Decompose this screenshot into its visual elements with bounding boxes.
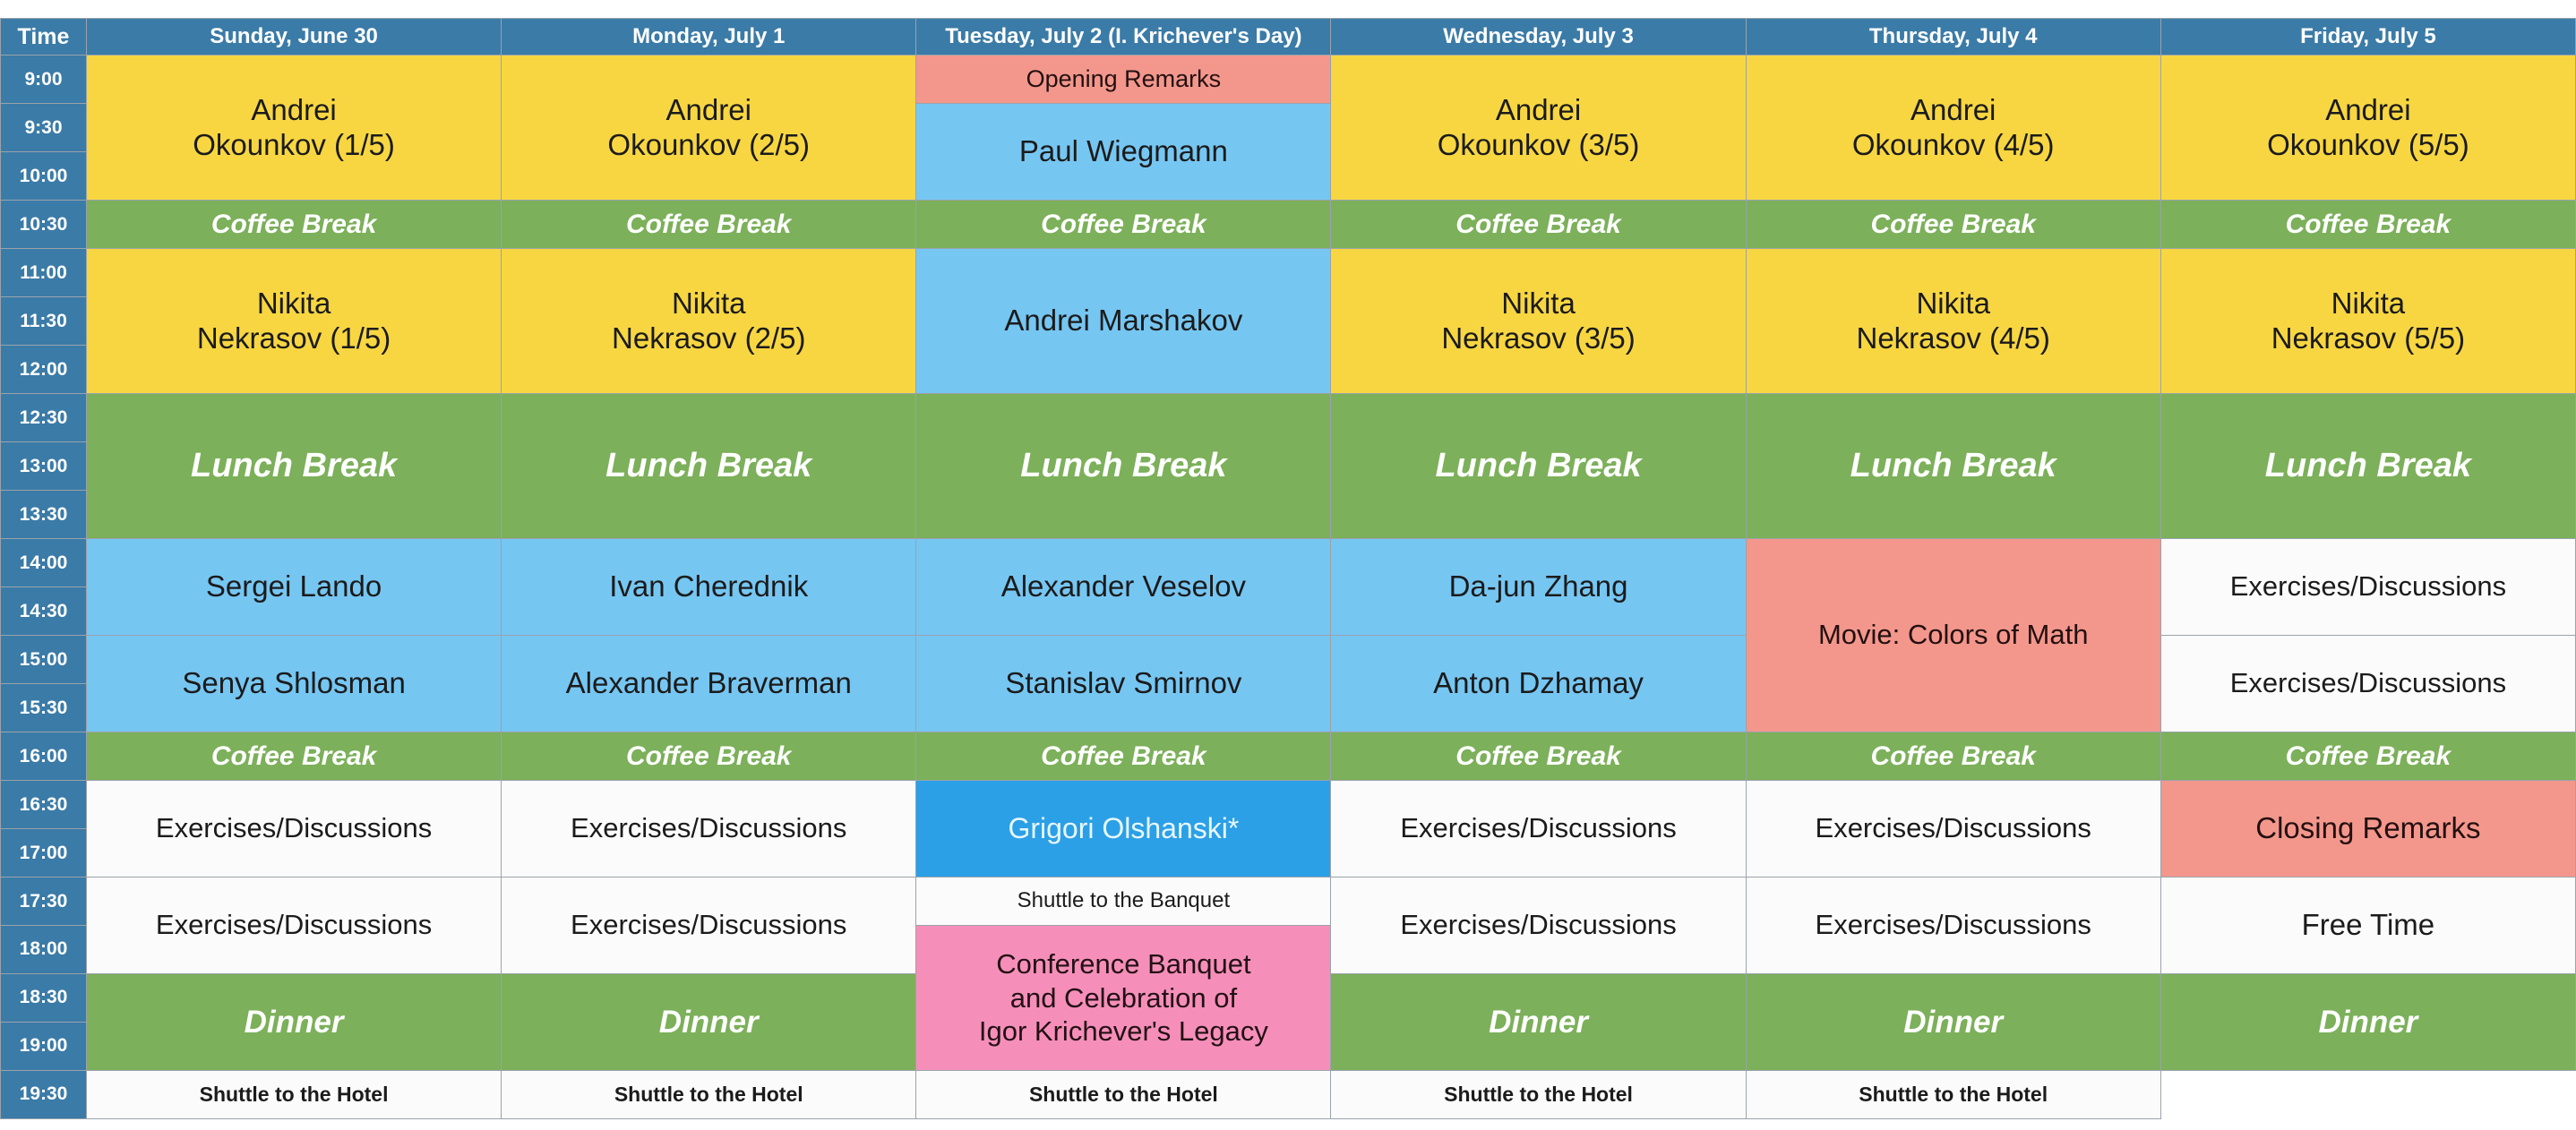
row-0900: 9:00 AndreiOkounkov (1/5) AndreiOkounkov… bbox=[1, 56, 2576, 104]
event-tue-coffee-break-am[interactable]: Coffee Break bbox=[916, 201, 1331, 249]
event-mon-lunch-break[interactable]: Lunch Break bbox=[502, 394, 916, 539]
event-sun-coffee-break-am[interactable]: Coffee Break bbox=[87, 201, 502, 249]
time-label-1730: 17:30 bbox=[1, 877, 87, 926]
event-wed-anton-dzhamay[interactable]: Anton Dzhamay bbox=[1331, 636, 1746, 732]
time-label-1100: 11:00 bbox=[1, 249, 87, 297]
time-label-1200: 12:00 bbox=[1, 346, 87, 394]
event-sun-exercises-late1[interactable]: Exercises/Discussions bbox=[87, 781, 502, 877]
event-thu-shuttle-hotel[interactable]: Shuttle to the Hotel bbox=[1331, 1070, 1746, 1118]
event-fri-coffee-break-am[interactable]: Coffee Break bbox=[2160, 201, 2575, 249]
event-fri-coffee-break-pm[interactable]: Coffee Break bbox=[2160, 732, 2575, 781]
time-label-1400: 14:00 bbox=[1, 539, 87, 587]
time-column-header: Time bbox=[1, 19, 87, 56]
event-mon-coffee-break-pm[interactable]: Coffee Break bbox=[502, 732, 916, 781]
event-fri-lunch-break[interactable]: Lunch Break bbox=[2160, 394, 2575, 539]
event-wed-da-jun-zhang[interactable]: Da-jun Zhang bbox=[1331, 539, 1746, 636]
event-sun-second-lecture[interactable]: NikitaNekrasov (1/5) bbox=[87, 249, 502, 394]
time-label-1000: 10:00 bbox=[1, 152, 87, 201]
event-fri-shuttle-hotel[interactable]: Shuttle to the Hotel bbox=[1746, 1070, 2160, 1118]
event-sun-coffee-break-pm[interactable]: Coffee Break bbox=[87, 732, 502, 781]
event-wed-exercises-late2[interactable]: Exercises/Discussions bbox=[1331, 877, 1746, 974]
event-sun-senya-shlosman[interactable]: Senya Shlosman bbox=[87, 636, 502, 732]
time-label-1330: 13:30 bbox=[1, 491, 87, 539]
time-label-1500: 15:00 bbox=[1, 636, 87, 684]
event-thu-lunch-break[interactable]: Lunch Break bbox=[1746, 394, 2160, 539]
event-tue-lunch-break[interactable]: Lunch Break bbox=[916, 394, 1331, 539]
event-thu-second-lecture[interactable]: NikitaNekrasov (4/5) bbox=[1746, 249, 2160, 394]
event-fri-exercises-pm1[interactable]: Exercises/Discussions bbox=[2160, 539, 2575, 636]
event-wed-second-lecture[interactable]: NikitaNekrasov (3/5) bbox=[1331, 249, 1746, 394]
time-label-1700: 17:00 bbox=[1, 829, 87, 877]
event-wed-morning-lecture[interactable]: AndreiOkounkov (3/5) bbox=[1331, 56, 1746, 201]
event-thu-coffee-break-pm[interactable]: Coffee Break bbox=[1746, 732, 2160, 781]
event-tue-andrei-marshakov[interactable]: Andrei Marshakov bbox=[916, 249, 1331, 394]
event-tue-stanislav-smirnov[interactable]: Stanislav Smirnov bbox=[916, 636, 1331, 732]
event-tue-alexander-veselov[interactable]: Alexander Veselov bbox=[916, 539, 1331, 636]
event-mon-exercises-late2[interactable]: Exercises/Discussions bbox=[502, 877, 916, 974]
event-wed-coffee-break-am[interactable]: Coffee Break bbox=[1331, 201, 1746, 249]
event-fri-exercises-pm2[interactable]: Exercises/Discussions bbox=[2160, 636, 2575, 732]
event-wed-lunch-break[interactable]: Lunch Break bbox=[1331, 394, 1746, 539]
event-tue-conference-banquet[interactable]: Conference Banquetand Celebration ofIgor… bbox=[916, 926, 1331, 1071]
time-label-1800: 18:00 bbox=[1, 926, 87, 974]
event-mon-morning-lecture[interactable]: AndreiOkounkov (2/5) bbox=[502, 56, 916, 201]
row-1930: 19:30 Shuttle to the Hotel Shuttle to th… bbox=[1, 1070, 2576, 1118]
event-fri-free-time[interactable]: Free Time bbox=[2160, 877, 2575, 974]
event-fri-closing-remarks[interactable]: Closing Remarks bbox=[2160, 781, 2575, 877]
row-1630: 16:30 Exercises/Discussions Exercises/Di… bbox=[1, 781, 2576, 829]
event-mon-second-lecture[interactable]: NikitaNekrasov (2/5) bbox=[502, 249, 916, 394]
time-label-1600: 16:00 bbox=[1, 732, 87, 781]
event-thu-movie-colors-of-math[interactable]: Movie: Colors of Math bbox=[1746, 539, 2160, 732]
event-tue-opening-remarks[interactable]: Opening Remarks bbox=[916, 56, 1331, 104]
time-label-1030: 10:30 bbox=[1, 201, 87, 249]
event-tue-shuttle-to-banquet[interactable]: Shuttle to the Banquet bbox=[916, 877, 1331, 926]
event-sun-lunch-break[interactable]: Lunch Break bbox=[87, 394, 502, 539]
event-wed-coffee-break-pm[interactable]: Coffee Break bbox=[1331, 732, 1746, 781]
event-sun-dinner[interactable]: Dinner bbox=[87, 973, 502, 1070]
header-row: Time Sunday, June 30 Monday, July 1 Tues… bbox=[1, 19, 2576, 56]
time-label-1900: 19:00 bbox=[1, 1022, 87, 1070]
event-sun-morning-lecture[interactable]: AndreiOkounkov (1/5) bbox=[87, 56, 502, 201]
row-1400: 14:00 Sergei Lando Ivan Cherednik Alexan… bbox=[1, 539, 2576, 587]
event-fri-morning-lecture[interactable]: AndreiOkounkov (5/5) bbox=[2160, 56, 2575, 201]
time-label-0900: 9:00 bbox=[1, 56, 87, 104]
time-label-1430: 14:30 bbox=[1, 587, 87, 636]
row-1730: 17:30 Exercises/Discussions Exercises/Di… bbox=[1, 877, 2576, 926]
row-1600: 16:00 Coffee Break Coffee Break Coffee B… bbox=[1, 732, 2576, 781]
day-header-tuesday: Tuesday, July 2 (I. Krichever's Day) bbox=[916, 19, 1331, 56]
time-label-1300: 13:00 bbox=[1, 442, 87, 491]
event-thu-exercises-late2[interactable]: Exercises/Discussions bbox=[1746, 877, 2160, 974]
event-sun-shuttle-hotel[interactable]: Shuttle to the Hotel bbox=[87, 1070, 502, 1118]
day-header-monday: Monday, July 1 bbox=[502, 19, 916, 56]
time-label-1930: 19:30 bbox=[1, 1070, 87, 1118]
event-thu-exercises-late1[interactable]: Exercises/Discussions bbox=[1746, 781, 2160, 877]
event-fri-second-lecture[interactable]: NikitaNekrasov (5/5) bbox=[2160, 249, 2575, 394]
time-label-1830: 18:30 bbox=[1, 973, 87, 1022]
event-mon-exercises-late1[interactable]: Exercises/Discussions bbox=[502, 781, 916, 877]
event-mon-ivan-cherednik[interactable]: Ivan Cherednik bbox=[502, 539, 916, 636]
time-label-0930: 9:30 bbox=[1, 104, 87, 152]
event-mon-coffee-break-am[interactable]: Coffee Break bbox=[502, 201, 916, 249]
row-1500: 15:00 Senya Shlosman Alexander Braverman… bbox=[1, 636, 2576, 684]
row-1030: 10:30 Coffee Break Coffee Break Coffee B… bbox=[1, 201, 2576, 249]
event-sun-sergei-lando[interactable]: Sergei Lando bbox=[87, 539, 502, 636]
conference-schedule-table: Time Sunday, June 30 Monday, July 1 Tues… bbox=[0, 18, 2576, 1119]
event-mon-alexander-braverman[interactable]: Alexander Braverman bbox=[502, 636, 916, 732]
event-thu-dinner[interactable]: Dinner bbox=[1746, 973, 2160, 1070]
event-mon-shuttle-hotel[interactable]: Shuttle to the Hotel bbox=[502, 1070, 916, 1118]
time-label-1230: 12:30 bbox=[1, 394, 87, 442]
day-header-thursday: Thursday, July 4 bbox=[1746, 19, 2160, 56]
event-wed-exercises-late1[interactable]: Exercises/Discussions bbox=[1331, 781, 1746, 877]
time-label-1530: 15:30 bbox=[1, 684, 87, 732]
event-fri-dinner[interactable]: Dinner bbox=[2160, 973, 2575, 1070]
day-header-wednesday: Wednesday, July 3 bbox=[1331, 19, 1746, 56]
row-1100: 11:00 NikitaNekrasov (1/5) NikitaNekraso… bbox=[1, 249, 2576, 297]
event-tue-coffee-break-pm[interactable]: Coffee Break bbox=[916, 732, 1331, 781]
time-label-1630: 16:30 bbox=[1, 781, 87, 829]
time-label-1130: 11:30 bbox=[1, 297, 87, 346]
row-1230: 12:30 Lunch Break Lunch Break Lunch Brea… bbox=[1, 394, 2576, 442]
event-wed-shuttle-hotel[interactable]: Shuttle to the Hotel bbox=[916, 1070, 1331, 1118]
event-thu-morning-lecture[interactable]: AndreiOkounkov (4/5) bbox=[1746, 56, 2160, 201]
event-tue-grigori-olshanski[interactable]: Grigori Olshanski* bbox=[916, 781, 1331, 877]
event-thu-coffee-break-am[interactable]: Coffee Break bbox=[1746, 201, 2160, 249]
day-header-friday: Friday, July 5 bbox=[2160, 19, 2575, 56]
event-sun-exercises-late2[interactable]: Exercises/Discussions bbox=[87, 877, 502, 974]
day-header-sunday: Sunday, June 30 bbox=[87, 19, 502, 56]
event-mon-dinner[interactable]: Dinner bbox=[502, 973, 916, 1070]
event-wed-dinner[interactable]: Dinner bbox=[1331, 973, 1746, 1070]
event-tue-paul-wiegmann[interactable]: Paul Wiegmann bbox=[916, 104, 1331, 201]
